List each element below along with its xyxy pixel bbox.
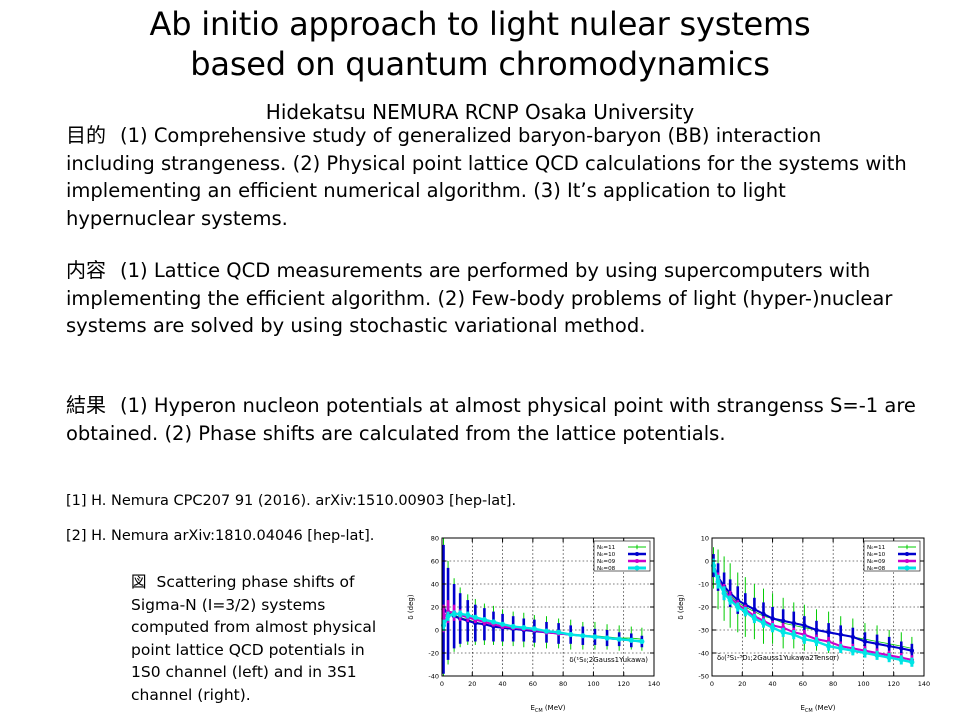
legend-label-3: N₀=08 (867, 566, 886, 572)
svg-text:60: 60 (529, 680, 537, 688)
svg-text:-20: -20 (698, 603, 709, 611)
legend: N₀=11N₀=10N₀=09N₀=08 (864, 541, 920, 572)
section-purpose-text: (1) Comprehensive study of generalized b… (66, 124, 907, 230)
legend-label-2: N₀=09 (597, 559, 616, 565)
plot-annotation: δ̄₀(³S₁-³D₁;2Gauss1Yukawa2Tensor) (717, 653, 839, 662)
svg-text:140: 140 (918, 680, 930, 688)
svg-text:-10: -10 (698, 580, 709, 588)
svg-text:20: 20 (431, 603, 439, 611)
svg-text:40: 40 (431, 580, 439, 588)
svg-text:80: 80 (829, 680, 837, 688)
svg-text:0: 0 (705, 557, 709, 565)
svg-text:10: 10 (701, 534, 709, 542)
svg-text:-40: -40 (698, 649, 709, 657)
svg-text:80: 80 (431, 534, 439, 542)
chart-phase-shift-3s1: 020406080100120140-50-40-30-20-10010ECM … (674, 528, 934, 714)
svg-text:0: 0 (435, 626, 439, 634)
figure-marker: 図 (131, 571, 147, 594)
svg-text:20: 20 (468, 680, 476, 688)
reference-1: [1] H. Nemura CPC207 91 (2016). arXiv:15… (66, 492, 626, 510)
section-results-heading: 結果 (66, 393, 106, 417)
legend: N₀=11N₀=10N₀=09N₀=08 (594, 541, 650, 572)
plot-area-left: 020406080100120140-40-20020406080ECM (Me… (404, 528, 664, 714)
slide-canvas: Ab initio approach to light nulear syste… (0, 0, 960, 720)
svg-text:40: 40 (498, 680, 506, 688)
section-results-text: (1) Hyperon nucleon potentials at almost… (66, 394, 916, 445)
svg-text:60: 60 (799, 680, 807, 688)
plot-annotation: δ(¹S₀;2Gauss1Yukawa) (569, 656, 648, 664)
svg-text:80: 80 (559, 680, 567, 688)
figure-caption-text: Scattering phase shifts of Sigma-N (I=3/… (131, 573, 376, 704)
section-content-text: (1) Lattice QCD measurements are perform… (66, 259, 892, 337)
title-line-1: Ab initio approach to light nulear syste… (40, 4, 920, 44)
legend-label-3: N₀=08 (597, 566, 616, 572)
legend-label-1: N₀=10 (597, 552, 616, 558)
svg-text:-20: -20 (428, 649, 439, 657)
title-line-2: based on quantum chromodynamics (40, 44, 920, 84)
section-content-heading: 内容 (66, 258, 106, 282)
svg-text:-40: -40 (428, 672, 439, 680)
svg-text:-50: -50 (698, 672, 709, 680)
svg-text:0: 0 (440, 680, 444, 688)
section-content: 内容(1) Lattice QCD measurements are perfo… (66, 257, 916, 340)
svg-text:0: 0 (710, 680, 714, 688)
svg-text:100: 100 (587, 680, 599, 688)
svg-text:20: 20 (738, 680, 746, 688)
svg-text:120: 120 (618, 680, 630, 688)
svg-text:100: 100 (857, 680, 869, 688)
y-axis-label: δ (deg) (677, 594, 685, 619)
plot-area-right: 020406080100120140-50-40-30-20-10010ECM … (674, 528, 934, 714)
svg-text:140: 140 (648, 680, 660, 688)
y-axis-label: δ (deg) (407, 594, 415, 619)
page-title: Ab initio approach to light nulear syste… (40, 4, 920, 84)
legend-label-2: N₀=09 (867, 559, 886, 565)
svg-text:120: 120 (888, 680, 900, 688)
svg-text:40: 40 (768, 680, 776, 688)
author-affiliation: Hidekatsu NEMURA RCNP Osaka University (40, 100, 920, 124)
chart-phase-shift-1s0: 020406080100120140-40-20020406080ECM (Me… (404, 528, 664, 714)
figure-caption: 図Scattering phase shifts of Sigma-N (I=3… (131, 571, 381, 706)
svg-text:-30: -30 (698, 626, 709, 634)
legend-label-1: N₀=10 (867, 552, 886, 558)
legend-label-0: N₀=11 (597, 545, 616, 551)
svg-text:60: 60 (431, 557, 439, 565)
legend-label-0: N₀=11 (867, 545, 886, 551)
section-purpose: 目的(1) Comprehensive study of generalized… (66, 122, 916, 232)
section-results: 結果(1) Hyperon nucleon potentials at almo… (66, 392, 916, 447)
section-purpose-heading: 目的 (66, 123, 106, 147)
